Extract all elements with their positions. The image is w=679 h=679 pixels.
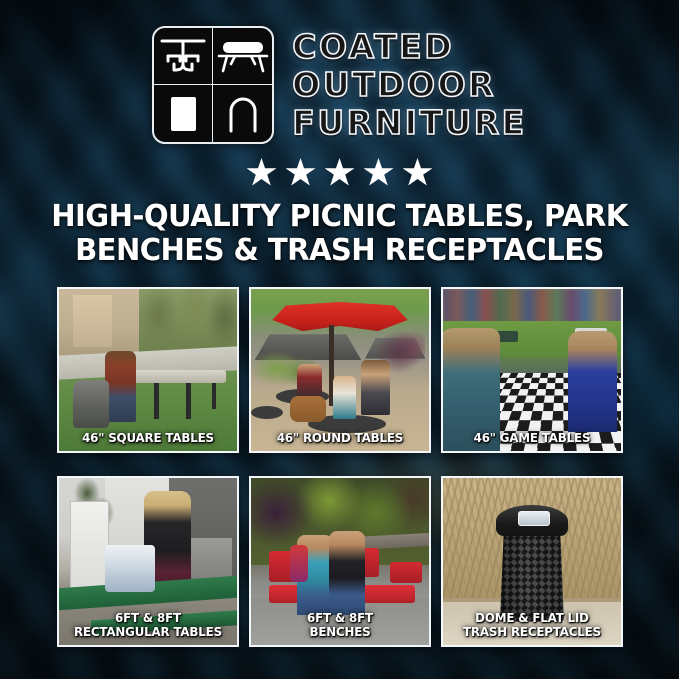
product-tile-square-tables[interactable]: 46" SQUARE TABLES <box>57 287 239 453</box>
wordmark-line-coated: COATED <box>292 28 526 66</box>
product-tile-grid: 46" SQUARE TABLES 46" ROUND TABLES <box>57 287 623 647</box>
star-icon-2 <box>286 158 316 187</box>
product-tile-benches[interactable]: 6FT & 8FT BENCHES <box>249 476 431 647</box>
product-photo-round-tables <box>251 289 429 451</box>
headline-line-1: HIGH-QUALITY PICNIC TABLES, PARK <box>39 200 639 234</box>
product-tile-trash-receptacles[interactable]: DOME & FLAT LID TRASH RECEPTACLES <box>441 476 623 647</box>
tile-caption: 46" GAME TABLES <box>451 431 613 445</box>
star-icon-5 <box>403 158 433 187</box>
product-banner: COATED OUTDOOR FURNITURE HIGH-QUALITY PI… <box>0 0 679 679</box>
trash-receptacle-icon <box>154 85 213 142</box>
tile-caption: DOME & FLAT LID TRASH RECEPTACLES <box>451 611 613 639</box>
product-photo-game-tables <box>443 289 621 451</box>
star-icon-1 <box>247 158 277 187</box>
star-icon-3 <box>325 158 355 187</box>
headline-line-2: BENCHES & TRASH RECEPTACLES <box>39 234 639 268</box>
picnic-table-icon <box>154 28 213 85</box>
tile-caption: 46" ROUND TABLES <box>259 431 421 445</box>
star-rating <box>0 158 679 187</box>
bike-rack-icon <box>213 85 272 142</box>
wordmark-line-outdoor: OUTDOOR <box>292 66 526 104</box>
park-bench-icon <box>213 28 272 85</box>
brand-wordmark: COATED OUTDOOR FURNITURE <box>292 26 526 142</box>
tile-caption: 6FT & 8FT BENCHES <box>259 611 421 639</box>
wordmark-line-furniture: FURNITURE <box>292 104 526 142</box>
product-photo-square-tables <box>59 289 237 451</box>
product-tile-round-tables[interactable]: 46" ROUND TABLES <box>249 287 431 453</box>
logo-mark-grid <box>152 26 274 144</box>
product-tile-rectangular-tables[interactable]: 6FT & 8FT RECTANGULAR TABLES <box>57 476 239 647</box>
brand-logo: COATED OUTDOOR FURNITURE <box>0 26 679 144</box>
tile-caption: 46" SQUARE TABLES <box>67 431 229 445</box>
star-icon-4 <box>364 158 394 187</box>
tile-caption: 6FT & 8FT RECTANGULAR TABLES <box>67 611 229 639</box>
headline: HIGH-QUALITY PICNIC TABLES, PARK BENCHES… <box>39 200 639 268</box>
product-tile-game-tables[interactable]: 46" GAME TABLES <box>441 287 623 453</box>
banner-content: COATED OUTDOOR FURNITURE HIGH-QUALITY PI… <box>0 0 679 679</box>
